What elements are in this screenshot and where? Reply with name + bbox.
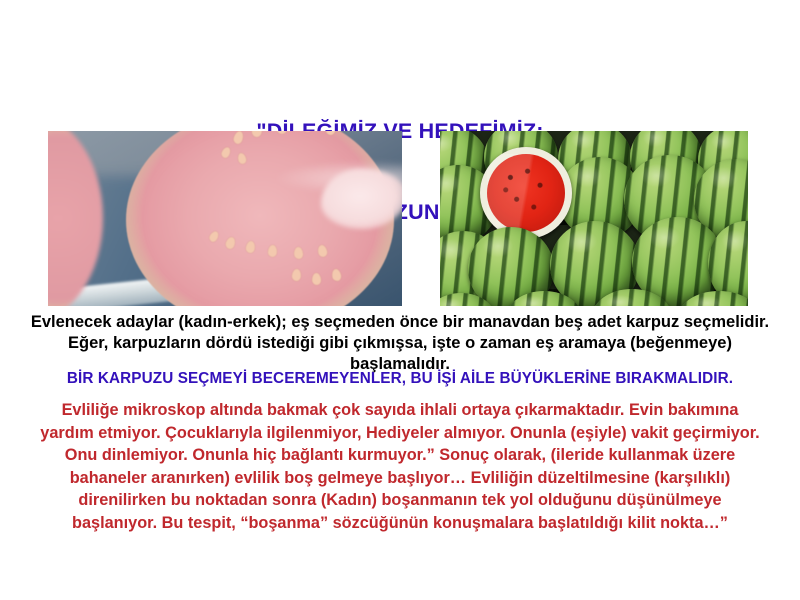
seed: [331, 268, 342, 281]
seed: [232, 131, 245, 145]
black-paragraph: Evlenecek adaylar (kadın-erkek); eş seçm…: [18, 312, 782, 375]
seed: [317, 244, 328, 258]
seed: [220, 146, 232, 159]
red-paragraph: Evliliğe mikroskop altında bakmak çok sa…: [34, 399, 766, 535]
seed: [324, 131, 337, 136]
seed: [251, 131, 263, 138]
seed: [302, 131, 314, 132]
left-photo-pale-core: [321, 169, 402, 229]
seed: [294, 247, 304, 260]
seed: [224, 236, 237, 250]
watermelon: [592, 289, 672, 306]
seed: [237, 152, 247, 165]
seed: [245, 240, 256, 253]
seed: [291, 269, 301, 282]
watermelon: [678, 291, 748, 306]
watermelon-stall-photo: [440, 131, 748, 306]
seed: [312, 273, 321, 285]
presentation-slide: "DİLEĞİMİZ VE HEDEFİMİZ; EVLİ, MUTLU, ÇO…: [0, 0, 800, 600]
purple-emphasis-line: BİR KARPUZU SEÇMEYİ BECEREMEYENLER, BU İ…: [18, 369, 782, 388]
watermelon: [440, 293, 496, 306]
left-photo-melon-half: [126, 131, 394, 306]
seed: [268, 245, 278, 258]
seed: [275, 131, 288, 135]
cut-pale-watermelon-photo: [48, 131, 402, 306]
seed: [208, 230, 221, 244]
watermelon: [506, 291, 582, 306]
